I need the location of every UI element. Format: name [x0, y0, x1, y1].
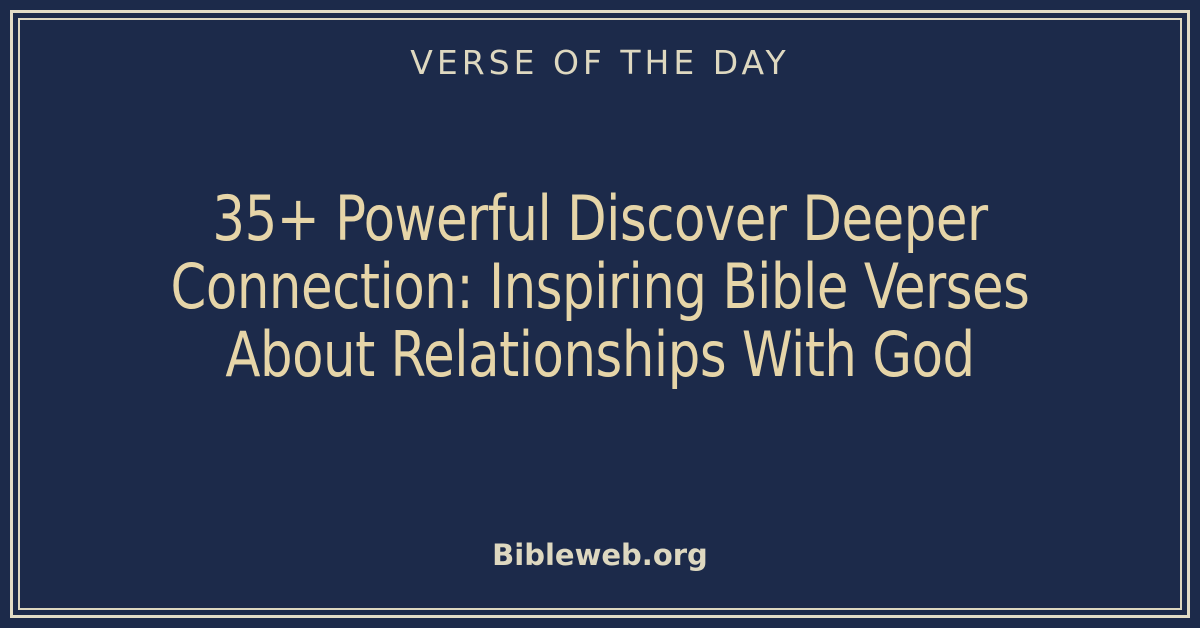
title-container: 35+ Powerful Discover Deeper Connection:…: [30, 185, 1170, 389]
site-name-footer: Bibleweb.org: [30, 541, 1170, 570]
eyebrow-label: VERSE OF THE DAY: [410, 46, 789, 79]
card-content: VERSE OF THE DAY 35+ Powerful Discover D…: [30, 30, 1170, 598]
page-title: 35+ Powerful Discover Deeper Connection:…: [131, 185, 1069, 389]
verse-of-the-day-card: VERSE OF THE DAY 35+ Powerful Discover D…: [0, 0, 1200, 628]
